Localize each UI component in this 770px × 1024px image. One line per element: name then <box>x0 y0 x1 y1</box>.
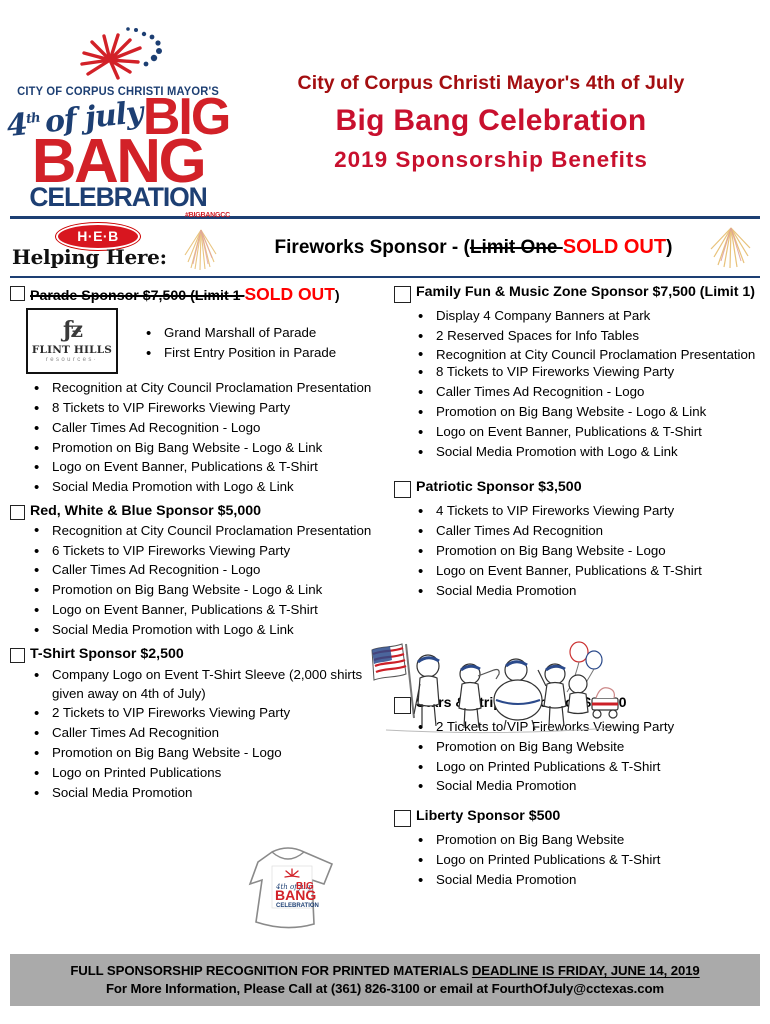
right-column: Family Fun & Music Zone Sponsor $7,500 (… <box>388 284 760 892</box>
list-item: Caller Times Ad Recognition - Logo <box>394 383 760 402</box>
benefit-list: Grand Marshall of Parade First Entry Pos… <box>118 324 382 363</box>
svg-text:CELEBRATION: CELEBRATION <box>276 903 319 909</box>
parade-benefit-list: Recognition at City Council Proclamation… <box>10 379 382 497</box>
fireworks-sold-out: SOLD OUT <box>563 236 666 258</box>
page-title-block: City of Corpus Christi Mayor's 4th of Ju… <box>236 14 770 173</box>
title-line-1: City of Corpus Christi Mayor's 4th of Ju… <box>236 72 746 95</box>
big-bang-logo: CITY OF CORPUS CHRISTI MAYOR'S 4th of ju… <box>0 14 236 219</box>
sponsor-columns: Parade Sponsor $7,500 (Limit 1 SOLD OUT)… <box>0 278 770 892</box>
sponsor-block-parade: Parade Sponsor $7,500 (Limit 1 SOLD OUT)… <box>10 284 382 497</box>
footer-line-1: FULL SPONSORSHIP RECOGNITION FOR PRINTED… <box>16 963 754 978</box>
list-item: Logo on Printed Publications & T-Shirt <box>394 758 760 777</box>
family-fun-title: Family Fun & Music Zone Sponsor $7,500 (… <box>416 284 755 302</box>
sponsor-block-patriotic: Patriotic Sponsor $3,500 4 Tickets to VI… <box>394 479 760 600</box>
list-item: Logo on Printed Publications <box>10 764 382 783</box>
parade-logo-row: ƒƶ FLINT HILLS resources· Grand Marshall… <box>10 308 382 374</box>
parade-logo-benefits: Grand Marshall of Parade First Entry Pos… <box>118 308 382 364</box>
fireworks-sponsor-band: H·E·B Helping Here: Fireworks Sponsor - … <box>10 219 760 276</box>
fireworks-sparkle-left-icon <box>181 224 221 272</box>
list-item: Logo on Event Banner, Publications & T-S… <box>10 458 382 477</box>
sponsor-block-tshirt: T-Shirt Sponsor $2,500 Company Logo on E… <box>10 646 382 803</box>
parade-sold-out: SOLD OUT <box>244 284 334 304</box>
parade-close-paren: ) <box>335 288 340 304</box>
list-item: Social Media Promotion with Logo & Link <box>10 478 382 497</box>
parade-sponsor-header: Parade Sponsor $7,500 (Limit 1 SOLD OUT) <box>10 284 382 306</box>
list-item: Promotion on Big Bang Website - Logo & L… <box>394 403 760 422</box>
page-header: CITY OF CORPUS CHRISTI MAYOR'S 4th of ju… <box>0 0 770 216</box>
flint-hills-resources-logo: ƒƶ FLINT HILLS resources· <box>26 308 118 374</box>
list-item: Caller Times Ad Recognition - Logo <box>10 561 382 580</box>
list-item: 2 Reserved Spaces for Info Tables <box>394 327 760 346</box>
list-item: Promotion on Big Bang Website <box>394 831 760 850</box>
family-fun-benefit-list: Display 4 Company Banners at Park 2 Rese… <box>394 307 760 461</box>
fireworks-sponsor-title: Fireworks Sponsor - (Limit One SOLD OUT) <box>221 236 760 259</box>
parade-sponsor-title: Parade Sponsor $7,500 (Limit 1 SOLD OUT) <box>30 284 340 306</box>
list-item: Promotion on Big Bang Website <box>394 738 760 757</box>
checkbox-family-fun-sponsor[interactable] <box>394 286 411 303</box>
list-item: 8 Tickets to VIP Fireworks Viewing Party <box>10 399 382 418</box>
liberty-title: Liberty Sponsor $500 <box>416 808 560 826</box>
patriotic-benefit-list: 4 Tickets to VIP Fireworks Viewing Party… <box>394 502 760 600</box>
list-item: Social Media Promotion <box>394 777 760 796</box>
checkbox-patriotic-sponsor[interactable] <box>394 481 411 498</box>
logo-hashtag: #BIGBANGCC <box>185 212 230 219</box>
patriotic-title: Patriotic Sponsor $3,500 <box>416 479 582 497</box>
rwb-benefit-list: Recognition at City Council Proclamation… <box>10 523 382 539</box>
fireworks-close-paren: ) <box>666 237 672 258</box>
liberty-benefit-list: Promotion on Big Bang Website Logo on Pr… <box>394 831 760 890</box>
fireworks-sparkle-right-icon <box>708 223 754 271</box>
sponsor-block-family-fun: Family Fun & Music Zone Sponsor $7,500 (… <box>394 284 760 461</box>
logo-bang-word: BANG <box>0 137 236 188</box>
sponsorship-flyer: CITY OF CORPUS CHRISTI MAYOR'S 4th of ju… <box>0 0 770 1024</box>
list-item: Logo on Event Banner, Publications & T-S… <box>394 423 760 442</box>
stars-stripes-header: Stars & Stripes Sponsor $1,000 <box>394 695 760 714</box>
left-column: Parade Sponsor $7,500 (Limit 1 SOLD OUT)… <box>10 284 388 892</box>
list-item: First Entry Position in Parade <box>118 344 382 363</box>
list-item: Logo on Printed Publications & T-Shirt <box>394 851 760 870</box>
rwb-sponsor-header: Red, White & Blue Sponsor $5,000 <box>10 503 382 521</box>
stars-stripes-benefit-list: 2 Tickets to VIP Fireworks Viewing Party… <box>394 718 760 797</box>
list-item: 8 Tickets to VIP Fireworks Viewing Party <box>394 363 760 382</box>
tshirt-sponsor-title: T-Shirt Sponsor $2,500 <box>30 646 184 664</box>
heb-helping-here-text: Helping Here: <box>12 245 167 269</box>
footer-line-2: For More Information, Please Call at (36… <box>16 981 754 996</box>
list-item: Promotion on Big Bang Website - Logo & L… <box>10 581 382 600</box>
list-item: Caller Times Ad Recognition <box>10 724 382 743</box>
list-item: 6 Tickets to VIP Fireworks Viewing Party <box>10 542 382 561</box>
family-fun-header: Family Fun & Music Zone Sponsor $7,500 (… <box>394 284 760 303</box>
list-item: Caller Times Ad Recognition - Logo <box>10 419 382 438</box>
parade-title-struck: Parade Sponsor $7,500 (Limit 1 <box>30 288 244 304</box>
list-item: Social Media Promotion <box>10 784 382 803</box>
checkbox-parade-sponsor[interactable] <box>10 286 25 301</box>
footer-line-1a: FULL SPONSORSHIP RECOGNITION FOR PRINTED… <box>70 963 472 978</box>
list-item: 2 Tickets to VIP Fireworks Viewing Party <box>10 704 382 723</box>
fireworks-limit-struck: Limit One <box>470 237 563 258</box>
list-item: 2 Tickets to VIP Fireworks Viewing Party <box>394 718 760 737</box>
logo-celebration-word: CELEBRATION <box>29 184 206 211</box>
flint-hills-subtitle: resources· <box>46 357 98 363</box>
rwb-benefit-list-2: 6 Tickets to VIP Fireworks Viewing Party… <box>10 542 382 640</box>
sponsor-block-liberty: Liberty Sponsor $500 Promotion on Big Ba… <box>394 808 760 890</box>
checkbox-tshirt-sponsor[interactable] <box>10 648 25 663</box>
tshirt-sponsor-header: T-Shirt Sponsor $2,500 <box>10 646 382 664</box>
checkbox-liberty-sponsor[interactable] <box>394 810 411 827</box>
list-item: Company Logo on Event T-Shirt Sleeve (2,… <box>10 666 382 704</box>
patriotic-header: Patriotic Sponsor $3,500 <box>394 479 760 498</box>
checkbox-red-white-blue-sponsor[interactable] <box>10 505 25 520</box>
liberty-header: Liberty Sponsor $500 <box>394 808 760 827</box>
flint-hills-name: FLINT HILLS <box>32 344 112 356</box>
fireworks-burst-icon <box>58 20 178 84</box>
fireworks-sponsor-label: Fireworks Sponsor - ( <box>275 237 470 258</box>
list-item: Recognition at City Council Proclamation… <box>394 347 760 362</box>
rwb-sponsor-title: Red, White & Blue Sponsor $5,000 <box>30 503 261 521</box>
title-line-3: 2019 Sponsorship Benefits <box>236 148 746 173</box>
heb-logo-text: H·E·B <box>77 228 118 244</box>
list-item: Promotion on Big Bang Website - Logo & L… <box>10 439 382 458</box>
list-item: Social Media Promotion <box>394 871 760 890</box>
list-item: Recognition at City Council Proclamation… <box>10 379 382 398</box>
list-item: 4 Tickets to VIP Fireworks Viewing Party <box>394 502 760 521</box>
list-item: Social Media Promotion <box>394 582 760 601</box>
footer-bar: FULL SPONSORSHIP RECOGNITION FOR PRINTED… <box>10 954 760 1006</box>
flint-hills-mark-icon: ƒƶ <box>63 319 81 341</box>
list-item: Promotion on Big Bang Website - Logo <box>394 542 760 561</box>
list-item: Recognition at City Council Proclamation… <box>10 523 382 539</box>
list-item: Social Media Promotion with Logo & Link <box>10 621 382 640</box>
list-item: Grand Marshall of Parade <box>118 324 382 343</box>
tshirt-benefit-list: Company Logo on Event T-Shirt Sleeve (2,… <box>10 666 382 803</box>
heb-logo: H·E·B Helping Here: <box>10 222 185 274</box>
list-item: Logo on Event Banner, Publications & T-S… <box>10 601 382 620</box>
list-item: Promotion on Big Bang Website - Logo <box>10 744 382 763</box>
list-item: Display 4 Company Banners at Park <box>394 307 760 326</box>
logo-city-line: CITY OF CORPUS CHRISTI MAYOR'S <box>17 86 219 98</box>
checkbox-stars-stripes-sponsor[interactable] <box>394 697 411 714</box>
title-line-2: Big Bang Celebration <box>236 104 746 137</box>
stars-stripes-title: Stars & Stripes Sponsor $1,000 <box>416 695 627 713</box>
footer-deadline: DEADLINE IS FRIDAY, JUNE 14, 2019 <box>472 963 700 978</box>
sponsor-block-stars-stripes: Stars & Stripes Sponsor $1,000 2 Tickets… <box>394 695 760 797</box>
list-item: Social Media Promotion with Logo & Link <box>394 443 760 462</box>
sponsor-block-red-white-blue: Red, White & Blue Sponsor $5,000 Recogni… <box>10 503 382 640</box>
list-item: Logo on Event Banner, Publications & T-S… <box>394 562 760 581</box>
list-item: Caller Times Ad Recognition <box>394 522 760 541</box>
